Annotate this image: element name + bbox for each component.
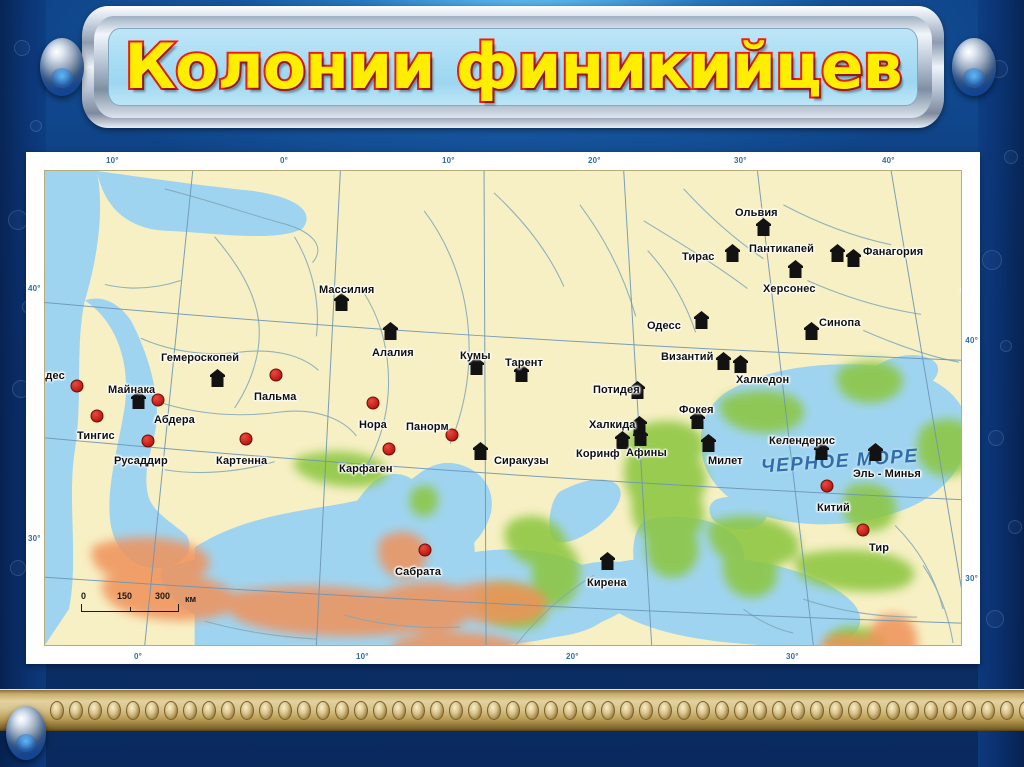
map-frame: 10°0°10°20°30°40° 0°10°20°30° 40°30° 40°…	[26, 152, 980, 664]
band-motif	[430, 701, 444, 720]
grid-label-bottom-0: 0°	[134, 652, 142, 661]
place-label: Кирена	[587, 577, 627, 589]
greek-colony-marker-icon	[724, 244, 741, 263]
colony-dot-icon	[270, 369, 283, 382]
band-motif	[715, 701, 729, 720]
band-motif	[354, 701, 368, 720]
place-label: Тирас	[682, 251, 715, 263]
grid-label-right-0: 40°	[965, 336, 978, 345]
scale-end-label: 300	[155, 591, 170, 601]
place-label: Афины	[626, 447, 667, 459]
place-label: Милет	[708, 455, 743, 467]
band-motif	[791, 701, 805, 720]
map-geography	[45, 171, 961, 645]
place-label: Одесс	[647, 320, 681, 332]
phoenician-colony-marker[interactable]	[821, 480, 834, 493]
band-motif	[829, 701, 843, 720]
band-motif	[221, 701, 235, 720]
place-label: Халкедон	[736, 374, 789, 386]
band-motif	[962, 701, 976, 720]
greek-colony-marker-icon	[382, 322, 399, 341]
band-motif	[50, 701, 64, 720]
place-label: Абдера	[154, 414, 195, 426]
presentation-slide: Колонии финикийцев 10°0°10°20°30°40° 0°1…	[0, 0, 1024, 767]
place-label: Ольвия	[735, 207, 778, 219]
band-motif	[772, 701, 786, 720]
place-label: Гемероскопей	[161, 352, 239, 364]
place-label: Гадес	[44, 370, 65, 382]
scale-start-label: 0	[81, 591, 86, 601]
place-label: Китий	[817, 502, 850, 514]
map-canvas[interactable]: СРЕДИЗЕМНОЕ МОРЕ ЧЕРНОЕ МОРЕ ГадесМайнак…	[44, 170, 962, 646]
grid-label-top-3: 20°	[588, 156, 601, 165]
place-label: Фасис	[961, 285, 962, 297]
grid-label-top-4: 30°	[734, 156, 747, 165]
colony-dot-icon	[91, 410, 104, 423]
greek-colony-marker-icon	[755, 218, 772, 237]
place-label: Алалия	[372, 347, 414, 359]
colony-dot-icon	[142, 435, 155, 448]
phoenician-colony-marker[interactable]	[419, 544, 432, 557]
band-motif	[316, 701, 330, 720]
scale-unit-label: км	[185, 594, 196, 604]
greek-colony-marker-icon	[700, 434, 717, 453]
band-motif	[1000, 701, 1014, 720]
greek-colony-marker-icon	[732, 355, 749, 374]
band-motif	[373, 701, 387, 720]
place-label: Сабрата	[395, 566, 441, 578]
band-motif	[582, 701, 596, 720]
colony-dot-icon	[152, 394, 165, 407]
greek-colony-marker-icon	[867, 443, 884, 462]
page-title: Колонии финикийцев	[124, 36, 901, 98]
band-motif	[943, 701, 957, 720]
place-label: Кумы	[460, 350, 491, 362]
place-label: Халкида	[589, 419, 636, 431]
phoenician-colony-marker[interactable]	[240, 433, 253, 446]
band-motif	[563, 701, 577, 720]
greek-colony-marker-icon	[845, 249, 862, 268]
grid-label-bottom-1: 10°	[356, 652, 369, 661]
scale-mid-label: 150	[117, 591, 132, 601]
band-motif	[601, 701, 615, 720]
band-motif	[734, 701, 748, 720]
band-motif	[544, 701, 558, 720]
place-label: Сиракузы	[494, 455, 549, 467]
band-motif	[525, 701, 539, 720]
phoenician-colony-marker[interactable]	[142, 435, 155, 448]
band-motif	[202, 701, 216, 720]
place-label: Массилия	[319, 284, 374, 296]
decorative-orb-bottom-left	[6, 706, 46, 760]
colony-dot-icon	[419, 544, 432, 557]
band-motif	[506, 701, 520, 720]
grid-label-top-0: 10°	[106, 156, 119, 165]
colony-dot-icon	[383, 443, 396, 456]
phoenician-colony-marker[interactable]	[383, 443, 396, 456]
grid-label-left-1: 30°	[28, 534, 41, 543]
place-label: Синопа	[819, 317, 860, 329]
phoenician-colony-marker[interactable]	[367, 397, 380, 410]
place-label: Пальма	[254, 391, 296, 403]
greek-colony-marker-icon	[209, 369, 226, 388]
band-motif	[677, 701, 691, 720]
place-label: Келендерис	[769, 435, 835, 447]
band-motif	[848, 701, 862, 720]
band-motif	[981, 701, 995, 720]
place-label: Тир	[869, 542, 889, 554]
band-motif	[411, 701, 425, 720]
band-motif	[468, 701, 482, 720]
decorative-bottom-band	[0, 689, 1024, 731]
grid-label-top-5: 40°	[882, 156, 895, 165]
title-plate-inner-panel: Колонии финикийцев	[108, 28, 918, 106]
greek-colony-marker-icon	[632, 428, 649, 447]
grid-label-left-0: 40°	[28, 284, 41, 293]
grid-label-bottom-2: 20°	[566, 652, 579, 661]
band-motif	[867, 701, 881, 720]
phoenician-colony-marker[interactable]	[91, 410, 104, 423]
decorative-orb-left	[40, 38, 84, 96]
place-label: Византий	[661, 351, 714, 363]
greek-colony-marker-icon	[472, 442, 489, 461]
band-motif	[297, 701, 311, 720]
place-label: Тингис	[77, 430, 115, 442]
band-motif	[620, 701, 634, 720]
colony-dot-icon	[857, 524, 870, 537]
colony-dot-icon	[821, 480, 834, 493]
band-motif	[240, 701, 254, 720]
colony-dot-icon	[240, 433, 253, 446]
band-motif	[658, 701, 672, 720]
band-motif	[69, 701, 83, 720]
band-motif	[905, 701, 919, 720]
map-scale-bar: 0 150 300 км	[81, 591, 191, 612]
place-label: Коринф	[576, 448, 620, 460]
place-label: Пантикапей	[749, 243, 814, 255]
band-motif	[259, 701, 273, 720]
greek-colony-marker-icon	[715, 352, 732, 371]
band-motif-row	[0, 701, 1024, 720]
band-motif	[449, 701, 463, 720]
phoenician-colony-marker[interactable]	[857, 524, 870, 537]
decorative-orb-right	[952, 38, 996, 96]
place-label: Тарент	[505, 357, 543, 369]
band-motif	[487, 701, 501, 720]
greek-colony-marker-icon	[787, 260, 804, 279]
place-label: Майнака	[108, 384, 155, 396]
band-motif	[1019, 701, 1024, 720]
band-motif	[696, 701, 710, 720]
band-motif	[753, 701, 767, 720]
greek-colony-marker-icon	[599, 552, 616, 571]
scale-bar-ruler	[81, 604, 179, 612]
band-motif	[164, 701, 178, 720]
band-motif	[335, 701, 349, 720]
greek-colony-marker-icon	[803, 322, 820, 341]
band-motif	[278, 701, 292, 720]
phoenician-colony-marker[interactable]	[152, 394, 165, 407]
band-motif	[392, 701, 406, 720]
phoenician-colony-marker[interactable]	[71, 380, 84, 393]
grid-label-right-1: 30°	[965, 574, 978, 583]
colony-dot-icon	[367, 397, 380, 410]
place-label: Херсонес	[763, 283, 816, 295]
band-motif	[107, 701, 121, 720]
band-motif	[639, 701, 653, 720]
place-label: Фанагория	[863, 246, 923, 258]
band-motif	[145, 701, 159, 720]
place-label: Русаддир	[114, 455, 168, 467]
band-motif	[88, 701, 102, 720]
place-label: Фокея	[679, 404, 714, 416]
place-label: Панорм	[406, 421, 449, 433]
band-motif	[810, 701, 824, 720]
place-label: Нора	[359, 419, 387, 431]
place-label: Эль - Минья	[853, 468, 921, 480]
grid-label-bottom-3: 30°	[786, 652, 799, 661]
greek-colony-marker-icon	[693, 311, 710, 330]
band-motif	[183, 701, 197, 720]
band-motif	[924, 701, 938, 720]
place-label: Карфаген	[339, 463, 393, 475]
band-motif	[886, 701, 900, 720]
grid-label-top-2: 10°	[442, 156, 455, 165]
grid-label-top-1: 0°	[280, 156, 288, 165]
phoenician-colony-marker[interactable]	[270, 369, 283, 382]
band-motif	[126, 701, 140, 720]
place-label: Потидея	[593, 384, 640, 396]
place-label: Картенна	[216, 455, 267, 467]
title-plate: Колонии финикийцев	[82, 6, 944, 128]
greek-colony-marker-icon	[829, 244, 846, 263]
colony-dot-icon	[71, 380, 84, 393]
